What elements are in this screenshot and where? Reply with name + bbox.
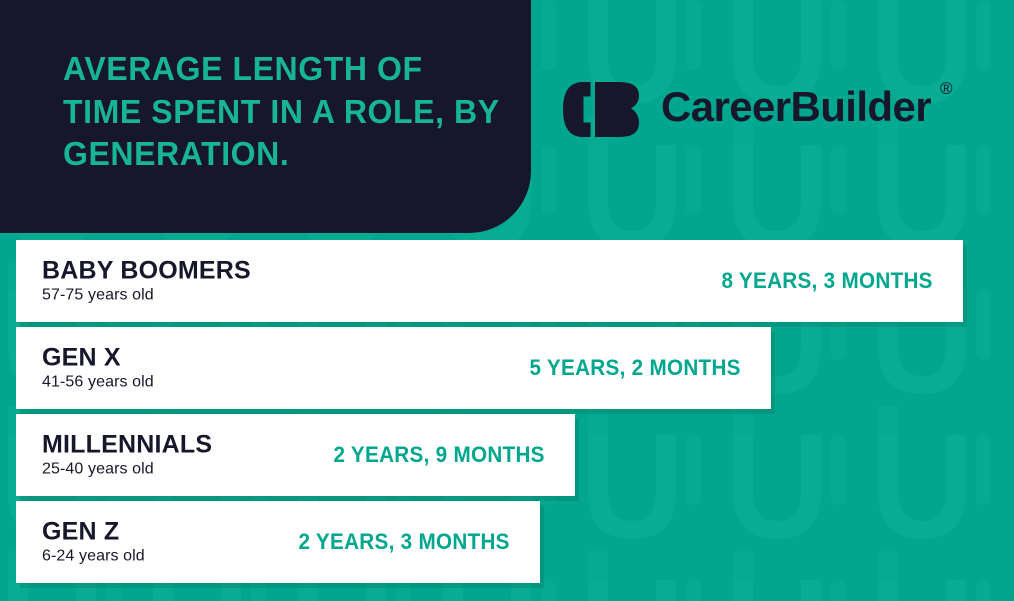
bar-label-group: BABY BOOMERS 57-75 years old: [42, 257, 251, 306]
table-row: BABY BOOMERS 57-75 years old 8 YEARS, 3 …: [16, 240, 963, 322]
table-row: GEN Z 6-24 years old 2 YEARS, 3 MONTHS: [16, 501, 540, 583]
logo-wordmark: CareerBuilder ®: [661, 86, 931, 128]
generation-age-range: 25-40 years old: [42, 460, 212, 480]
logo-wordmark-text: CareerBuilder: [661, 83, 931, 130]
page-title: Average length of time spent in a role, …: [63, 48, 500, 176]
generation-name: GEN Z: [42, 518, 145, 546]
table-row: GEN X 41-56 years old 5 YEARS, 2 MONTHS: [16, 327, 771, 409]
generation-age-range: 41-56 years old: [42, 373, 154, 393]
bar-label-group: MILLENNIALS 25-40 years old: [42, 431, 212, 480]
careerbuilder-logo: CareerBuilder ®: [563, 82, 931, 137]
bar-chart: BABY BOOMERS 57-75 years old 8 YEARS, 3 …: [0, 240, 1014, 588]
cb-monogram-icon: [563, 82, 639, 137]
bar-value-label: 2 YEARS, 3 MONTHS: [299, 529, 510, 555]
bar-value-label: 5 YEARS, 2 MONTHS: [530, 355, 741, 381]
generation-age-range: 6-24 years old: [42, 547, 145, 567]
bar-label-group: GEN Z 6-24 years old: [42, 518, 145, 567]
bar-label-group: GEN X 41-56 years old: [42, 344, 154, 393]
registered-trademark-icon: ®: [940, 80, 952, 97]
generation-name: BABY BOOMERS: [42, 257, 251, 285]
title-panel: Average length of time spent in a role, …: [0, 0, 531, 233]
generation-age-range: 57-75 years old: [42, 286, 251, 306]
infographic-canvas: Average length of time spent in a role, …: [0, 0, 1014, 601]
generation-name: MILLENNIALS: [42, 431, 212, 459]
bar-value-label: 8 YEARS, 3 MONTHS: [722, 268, 933, 294]
bar-value-label: 2 YEARS, 9 MONTHS: [334, 442, 545, 468]
table-row: MILLENNIALS 25-40 years old 2 YEARS, 9 M…: [16, 414, 575, 496]
generation-name: GEN X: [42, 344, 154, 372]
